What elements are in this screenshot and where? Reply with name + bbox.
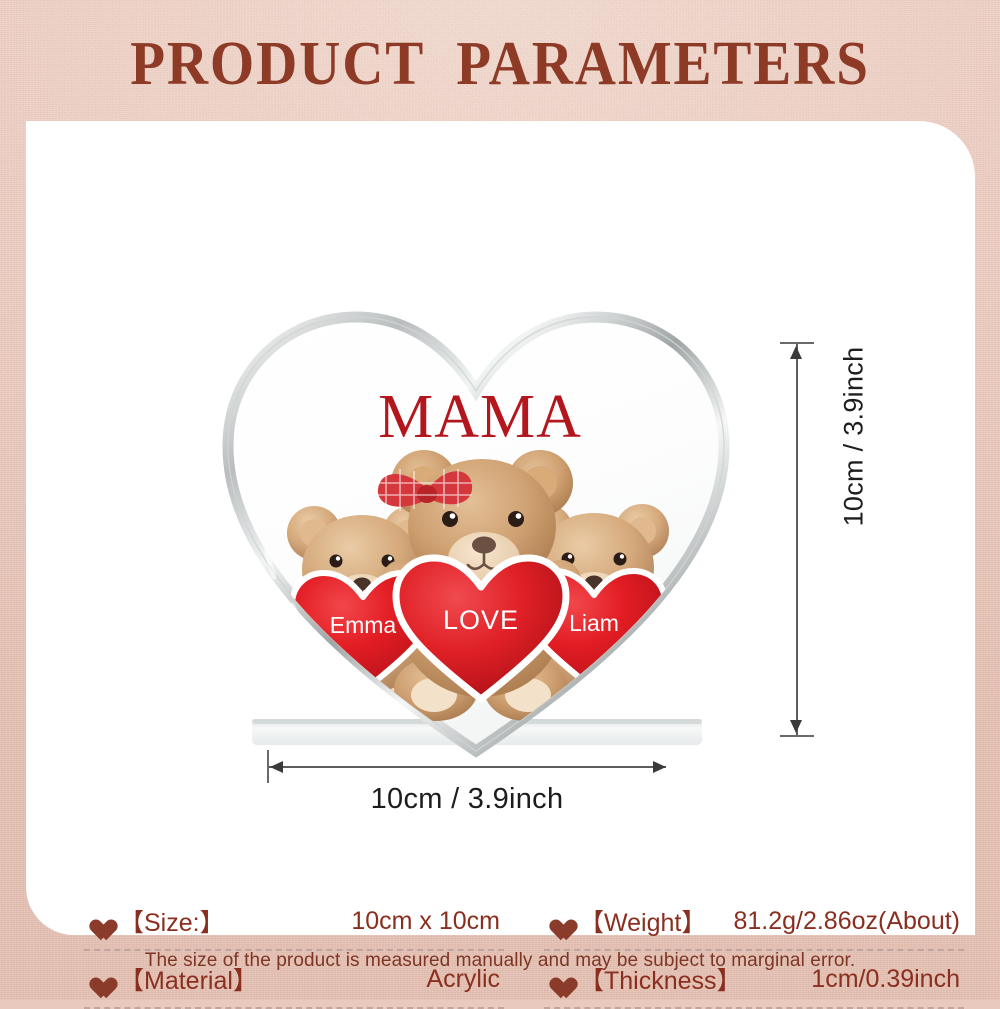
heart-center-name: LOVE [443, 605, 519, 635]
page-title: PRODUCT PARAMETERS [40, 33, 960, 95]
acrylic-heart-plaque: MAMA [196, 221, 756, 781]
product-image: MAMA [196, 221, 756, 781]
heart-icon [544, 909, 570, 933]
spec-value-weight: 81.2g/2.86oz(About) [733, 907, 964, 936]
content-card: MAMA [26, 121, 975, 935]
horizontal-dimension-cap-left [267, 750, 269, 783]
vertical-dimension-arrow-top [790, 346, 802, 359]
vertical-dimension-cap-bottom [780, 735, 814, 737]
spec-value-size: 10cm x 10cm [351, 907, 504, 936]
heart-left-name: Emma [330, 612, 397, 638]
spec-row-weight: 【Weight】 81.2g/2.86oz(About) [544, 893, 964, 949]
spec-row-size: 【Size:】 10cm x 10cm [84, 893, 504, 949]
horizontal-dimension-label: 10cm / 3.9inch [267, 783, 667, 816]
horizontal-dimension-arrow-right [653, 761, 666, 773]
heart-right-name: Liam [569, 610, 619, 636]
heart-icon [84, 909, 110, 933]
disclaimer-text: The size of the product is measured manu… [0, 950, 1000, 972]
vertical-dimension-arrow-bottom [790, 720, 802, 733]
infographic-page: PRODUCT PARAMETERS [0, 0, 1000, 1000]
plaque-personalized-title: MAMA [378, 383, 582, 451]
vertical-dimension-line [796, 343, 798, 735]
vertical-dimension-cap-top [780, 342, 814, 344]
spec-key-weight: 【Weight】 [579, 903, 706, 939]
horizontal-dimension-line [268, 766, 666, 768]
spec-key-size: 【Size:】 [119, 903, 225, 939]
vertical-dimension-label: 10cm / 3.9inch [839, 317, 870, 557]
horizontal-dimension-arrow-left [270, 761, 283, 773]
